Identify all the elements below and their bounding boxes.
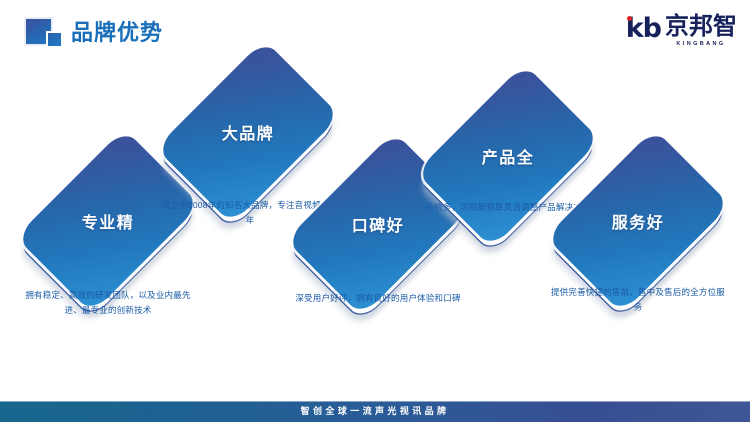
logo-red-dot-icon [627,16,632,21]
advantage-label-5: 服务好 [580,213,696,235]
advantage-caption-1: 拥有稳定、高效的研发团队，以及业内最先进、最专业的创新技术 [18,288,198,318]
footer-slogan: 智创全球一流声光视讯品牌 [301,401,450,422]
slide-footer: 智创全球一流声光视讯品牌 [0,401,750,422]
advantage-card-4[interactable]: 产品全 [450,72,566,248]
logo-name-en: KINGBANG [676,40,725,48]
advantage-label-1: 专业精 [50,213,166,235]
decorative-square-small-icon [46,31,63,48]
advantage-label-3: 口碑好 [320,216,436,238]
advantage-card-3[interactable]: 口碑好 [320,140,436,316]
advantage-label-2: 大品牌 [190,124,306,146]
slide-canvas: 品牌优势 kb 京邦智 KINGBANG 专业精 拥有稳定、高效的研发团队，以及… [0,0,750,422]
page-title: 品牌优势 [71,18,163,48]
advantage-card-1[interactable]: 专业精 [50,137,166,313]
advantage-caption-5: 提供完善快捷的售前、售中及售后的全方位服务 [548,285,728,315]
footer-divider [0,401,750,402]
logo-mark-kb: kb [626,14,661,44]
advantage-label-4: 产品全 [450,148,566,170]
company-logo: kb 京邦智 KINGBANG [626,14,737,48]
advantage-caption-3: 深受用户好评，拥有良好的用户体验和口碑 [288,291,468,306]
slide-header: 品牌优势 kb 京邦智 KINGBANG [0,0,750,62]
logo-wordmark: 京邦智 KINGBANG [665,14,737,48]
logo-name-cn: 京邦智 [665,14,737,39]
